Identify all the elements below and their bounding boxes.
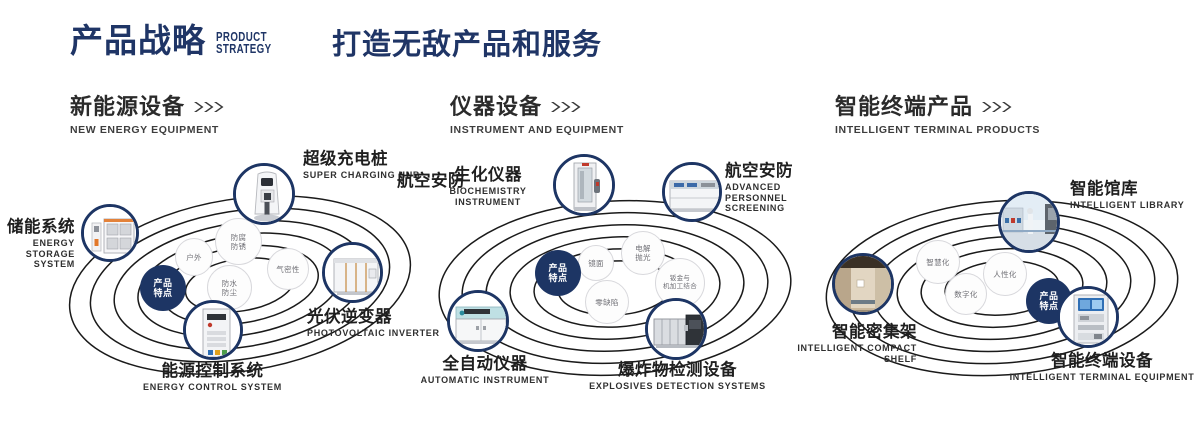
label-explosives-detection-systems: 爆炸物检测设备 EXPLOSIVES DETECTION SYSTEMS: [560, 361, 795, 392]
section-title-cn: 仪器设备: [450, 95, 542, 119]
self-service-kiosk-icon: [1060, 289, 1116, 345]
feature-bubble: 防腐 防锈: [215, 218, 262, 265]
label-automatic-instrument: 全自动仪器 AUTOMATIC INSTRUMENT: [375, 355, 595, 386]
node-automatic-instrument[interactable]: [447, 290, 509, 352]
node-advanced-personnel-screening[interactable]: [662, 162, 722, 222]
node-photovoltaic-inverter[interactable]: [322, 242, 383, 303]
section-header-instrument: 仪器设备 INSTRUMENT AND EQUIPMENT: [450, 95, 624, 136]
page-title-cn: 产品战略: [70, 24, 206, 57]
feature-bubble: 数字化: [945, 273, 987, 315]
feature-bubble: 镜面: [578, 245, 614, 281]
chevron-right-icon: [194, 101, 228, 113]
node-biochemistry-instrument[interactable]: [553, 154, 615, 216]
node-energy-control-system[interactable]: [183, 300, 243, 360]
node-explosives-detection-systems[interactable]: [645, 298, 707, 360]
cluster-new-energy-equipment: 户外 防腐 防锈 防水 防尘 气密性 产品 特点: [55, 160, 425, 390]
label-energy-storage-system: 储能系统 ENERGY STORAGE SYSTEM: [0, 218, 75, 269]
feature-bubble: 人性化: [983, 252, 1027, 296]
section-title-cn: 新能源设备: [70, 95, 185, 119]
pv-inverter-icon: [325, 245, 380, 300]
node-intelligent-terminal-equipment[interactable]: [1057, 286, 1119, 348]
library-interior-icon: [1001, 194, 1057, 250]
core-bubble-product-features: 产品 特点: [535, 250, 581, 296]
label-aviation-security: 航空安防: [397, 172, 465, 190]
page-title-en: PRODUCT STRATEGY: [216, 31, 271, 55]
section-header-new-energy: 新能源设备 NEW ENERGY EQUIPMENT: [70, 95, 228, 136]
page-title: 产品战略 PRODUCT STRATEGY: [70, 24, 287, 57]
node-intelligent-compact-shelf[interactable]: [832, 253, 894, 315]
label-intelligent-library: 智能馆库 INTELLIGENT LIBRARY: [1070, 180, 1184, 211]
label-advanced-personnel-screening: 航空安防 ADVANCED PERSONNEL SCREENING: [725, 162, 805, 213]
section-header-intelligent: 智能终端产品 INTELLIGENT TERMINAL PRODUCTS: [835, 95, 1040, 136]
battery-cabinet-icon: [84, 207, 136, 259]
feature-bubble: 零缺陷: [585, 280, 629, 324]
label-intelligent-compact-shelf: 智能密集架 INTELLIGENT COMPACT SHELF: [727, 323, 917, 364]
feature-bubble: 户外: [175, 238, 213, 276]
page-subtitle: 打造无敌产品和服务: [332, 30, 602, 62]
section-title-cn: 智能终端产品: [835, 95, 973, 119]
section-subtitle-en: NEW ENERGY EQUIPMENT: [70, 124, 228, 136]
node-intelligent-library[interactable]: [998, 191, 1060, 253]
biochemistry-scanner-icon: [556, 157, 612, 213]
feature-bubble: 气密性: [267, 248, 309, 290]
node-super-charging-hub[interactable]: [233, 163, 295, 225]
compact-shelf-icon: [835, 256, 891, 312]
product-strategy-infographic: 产品战略 PRODUCT STRATEGY 打造无敌产品和服务 新能源设备 NE…: [0, 0, 1200, 422]
label-energy-control-system: 能源控制系统 ENERGY CONTROL SYSTEM: [85, 362, 340, 393]
section-subtitle-en: INSTRUMENT AND EQUIPMENT: [450, 124, 624, 136]
chevron-right-icon: [551, 101, 585, 113]
section-subtitle-en: INTELLIGENT TERMINAL PRODUCTS: [835, 124, 1040, 136]
automatic-analyzer-icon: [450, 293, 506, 349]
node-energy-storage-system[interactable]: [81, 204, 139, 262]
charging-pile-icon: [236, 166, 292, 222]
explosives-detector-icon: [648, 301, 704, 357]
label-photovoltaic-inverter: 光伏逆变器 PHOTOVOLTAIC INVERTER: [307, 308, 440, 339]
screening-machine-icon: [665, 165, 719, 219]
core-bubble-product-features: 产品 特点: [140, 265, 186, 311]
cluster-intelligent-terminal-products: 智慧化 数字化 人性化 产品 特点: [812, 158, 1192, 388]
control-cabinet-icon: [186, 303, 240, 357]
label-intelligent-terminal-equipment: 智能终端设备 INTELLIGENT TERMINAL EQUIPMENT: [982, 352, 1200, 383]
chevron-right-icon: [982, 101, 1016, 113]
